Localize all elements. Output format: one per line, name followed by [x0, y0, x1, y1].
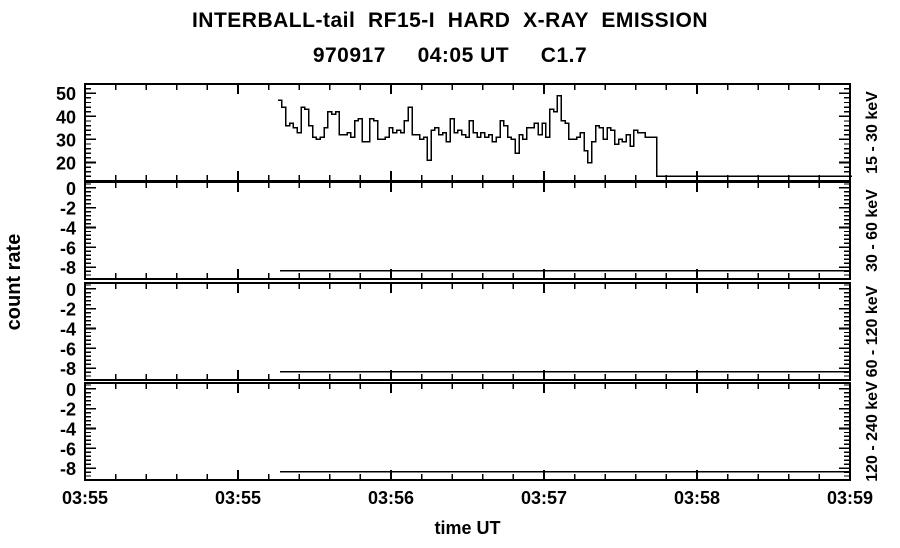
x-tick-label: 03:59 [827, 488, 873, 508]
y-tick-label: -8 [60, 359, 76, 379]
x-tick-label: 03:57 [521, 488, 567, 508]
panel-4: -8-6-4-20120 - 240 keV [60, 380, 881, 482]
y-tick-label: -6 [60, 339, 76, 359]
x-tick-label: 03:56 [368, 488, 414, 508]
y-tick-label: -8 [60, 459, 76, 479]
y-tick-label: -4 [60, 420, 76, 440]
x-tick-label: 03:58 [674, 488, 720, 508]
y-tick-label: -2 [60, 300, 76, 320]
x-axis-title: time UT [434, 518, 500, 538]
panel-energy-band-label: 60 - 120 keV [864, 285, 881, 377]
panel-frame [85, 182, 850, 279]
panel-frame [85, 283, 850, 380]
y-tick-label: 0 [66, 280, 76, 300]
y-tick-label: -2 [60, 199, 76, 219]
data-trace [278, 96, 852, 177]
x-axis-labels: 03:5503:5503:5603:5703:5803:59 [62, 488, 873, 508]
y-axis-title: count rate [3, 234, 25, 331]
y-tick-label: 0 [66, 380, 76, 400]
y-tick-label: -6 [60, 439, 76, 459]
panel-energy-band-label: 30 - 60 keV [864, 189, 881, 272]
panel-3: -8-6-4-2060 - 120 keV [60, 280, 881, 380]
y-tick-label: -4 [60, 320, 76, 340]
panel-frame [85, 84, 850, 181]
plot-area: 5040302015 - 30 keV-8-6-4-2030 - 60 keV-… [0, 0, 900, 548]
panel-1: 5040302015 - 30 keV [56, 84, 881, 181]
x-tick-label: 03:55 [215, 488, 261, 508]
y-tick-label: 50 [56, 84, 76, 104]
y-tick-label: 20 [56, 154, 76, 174]
y-tick-label: 40 [56, 107, 76, 127]
panel-energy-band-label: 120 - 240 keV [864, 381, 881, 482]
panel-2: -8-6-4-2030 - 60 keV [60, 179, 881, 279]
y-tick-label: -8 [60, 258, 76, 278]
y-tick-label: 0 [66, 179, 76, 199]
panel-energy-band-label: 15 - 30 keV [864, 91, 881, 174]
chart-canvas: 5040302015 - 30 keV-8-6-4-2030 - 60 keV-… [0, 0, 900, 548]
y-tick-label: 30 [56, 130, 76, 150]
x-tick-label: 03:55 [62, 488, 108, 508]
chart-page: INTERBALL-tail RF15-I HARD X-RAY EMISSIO… [0, 0, 900, 548]
y-tick-label: -2 [60, 400, 76, 420]
y-tick-label: -4 [60, 219, 76, 239]
panel-frame [85, 383, 850, 480]
y-tick-label: -6 [60, 238, 76, 258]
